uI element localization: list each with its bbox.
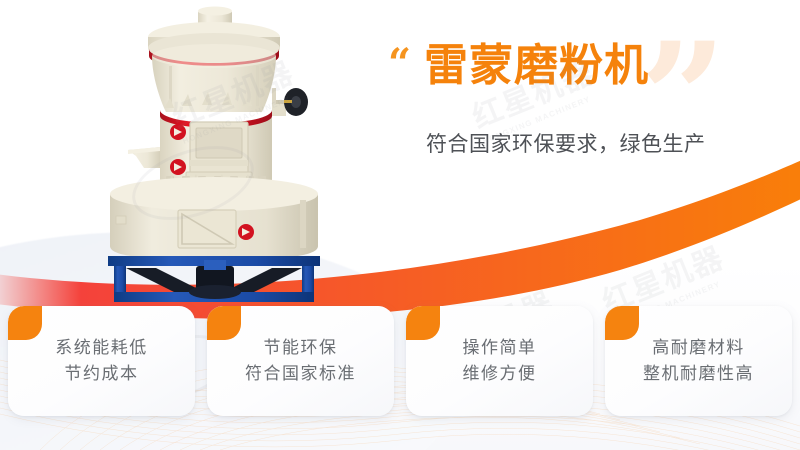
petal-accent-icon [605,306,639,340]
feature-card-easy-operate[interactable]: 操作简单 维修方便 [406,306,593,416]
feature-line-1: 操作简单 [463,335,537,361]
feature-line-2: 整机耐磨性高 [643,361,754,387]
petal-accent-icon [207,306,241,340]
promo-banner: ” [0,0,800,450]
feature-card-eco-friendly[interactable]: 节能环保 符合国家标准 [207,306,394,416]
petal-accent-icon [8,306,42,340]
quote-open-icon: “ [388,44,410,84]
feature-line-1: 节能环保 [264,335,338,361]
feature-line-1: 高耐磨材料 [652,335,745,361]
page-subtitle: 符合国家环保要求，绿色生产 [426,128,784,158]
feature-line-2: 维修方便 [463,361,537,387]
feature-line-2: 节约成本 [65,361,139,387]
feature-card-low-energy[interactable]: 系统能耗低 节约成本 [8,306,195,416]
page-title: 雷蒙磨粉机 [424,44,784,88]
feature-line-2: 符合国家标准 [245,361,356,387]
feature-card-wear-resistant[interactable]: 高耐磨材料 整机耐磨性高 [605,306,792,416]
feature-card-list: 系统能耗低 节约成本 节能环保 符合国家标准 操作简单 维修方便 高耐磨材料 整… [8,306,792,416]
feature-line-1: 系统能耗低 [55,335,148,361]
hero-text-block: 雷蒙磨粉机 符合国家环保要求，绿色生产 [424,44,784,158]
petal-accent-icon [406,306,440,340]
